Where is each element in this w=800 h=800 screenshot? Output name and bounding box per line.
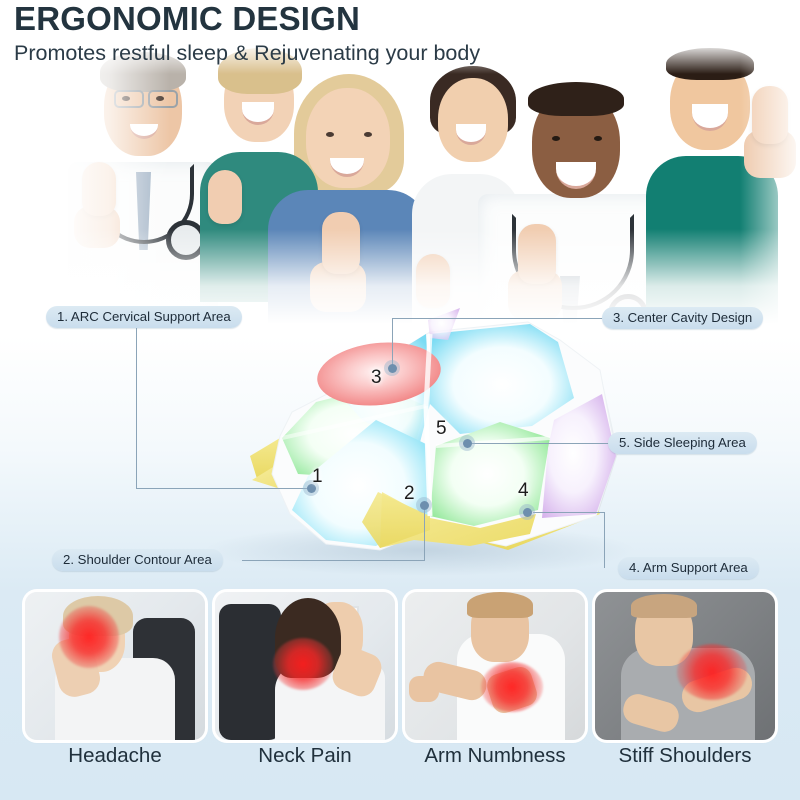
callout-leader-1-vertical <box>136 328 137 488</box>
callout-leader-3-horizontal <box>392 318 603 319</box>
callout-number-4: 4 <box>518 480 529 502</box>
pain-highlight-neck <box>273 638 333 690</box>
symptom-caption-arm-numbness: Arm Numbness <box>405 744 585 768</box>
callout-label-5[interactable]: 5. Side Sleeping Area <box>608 432 757 454</box>
callout-marker-2[interactable] <box>416 497 432 513</box>
infographic-page: ERGONOMIC DESIGN Promotes restful sleep … <box>0 0 800 800</box>
callout-leader-2-horizontal <box>242 560 424 561</box>
symptom-tiles: Headache Neck Pain <box>0 592 800 800</box>
callout-leader-4-vertical <box>604 512 605 568</box>
symptom-caption-neck-pain: Neck Pain <box>215 744 395 768</box>
pain-highlight-shoulder <box>677 644 747 700</box>
callout-label-3[interactable]: 3. Center Cavity Design <box>602 307 763 329</box>
symptom-tile-neck-pain[interactable] <box>215 592 395 740</box>
symptom-tile-stiff-shoulders[interactable] <box>595 592 775 740</box>
symptom-caption-stiff-shoulders: Stiff Shoulders <box>595 744 775 768</box>
callout-marker-4[interactable] <box>519 504 535 520</box>
callout-marker-5[interactable] <box>459 435 475 451</box>
callout-leader-1-horizontal <box>136 488 311 489</box>
pain-highlight-arm <box>481 662 543 712</box>
callout-marker-3[interactable] <box>384 360 400 376</box>
callout-leader-4-horizontal <box>533 512 605 513</box>
callout-leader-3-vertical <box>392 318 393 366</box>
callout-label-4[interactable]: 4. Arm Support Area <box>618 557 759 579</box>
callout-leader-2-vertical <box>424 505 425 561</box>
callout-number-5: 5 <box>436 418 447 440</box>
callout-number-3: 3 <box>371 367 382 389</box>
page-title: ERGONOMIC DESIGN <box>14 2 794 36</box>
symptom-tile-arm-numbness[interactable] <box>405 592 585 740</box>
callout-leader-5-horizontal <box>470 443 610 444</box>
symptom-caption-headache: Headache <box>25 744 205 768</box>
pain-highlight-head <box>59 606 119 668</box>
callout-label-1[interactable]: 1. ARC Cervical Support Area <box>46 306 242 328</box>
symptom-tile-headache[interactable] <box>25 592 205 740</box>
header: ERGONOMIC DESIGN Promotes restful sleep … <box>14 0 794 66</box>
callout-number-1: 1 <box>312 466 323 488</box>
page-subtitle: Promotes restful sleep & Rejuvenating yo… <box>14 40 794 66</box>
callout-label-2[interactable]: 2. Shoulder Contour Area <box>52 549 223 571</box>
callout-number-2: 2 <box>404 483 415 505</box>
